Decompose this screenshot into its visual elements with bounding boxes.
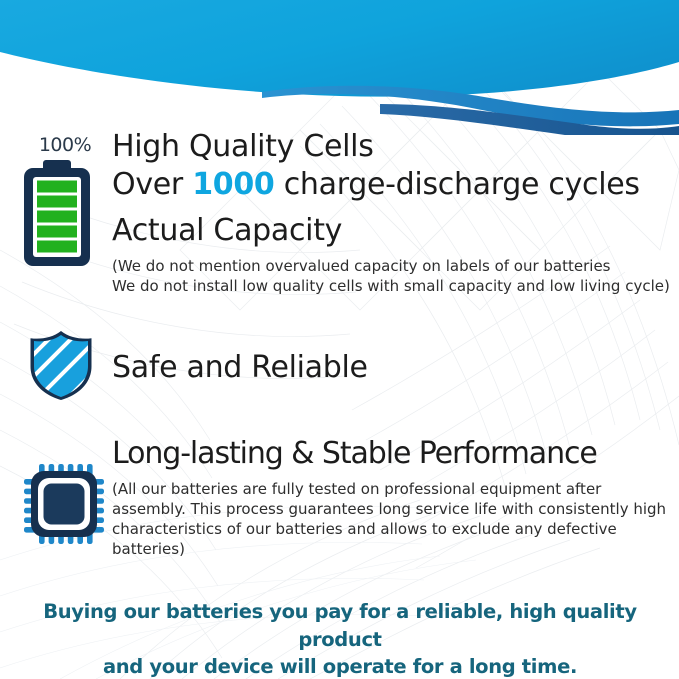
footer-line-1: Buying our batteries you pay for a relia…	[16, 598, 664, 653]
cycles-count: 1000	[192, 167, 274, 202]
feature-heading-long-lasting: Long-lasting & Stable Performance	[112, 437, 597, 472]
body-line: characteristics of our batteries and all…	[112, 520, 617, 538]
body-line: We do not install low quality cells with…	[112, 277, 670, 295]
feature-icon-safe-and-reliable	[28, 330, 94, 404]
body-line: (All our batteries are fully tested on p…	[112, 480, 601, 498]
content-area: 100% High Quality Cells Over 1000 charge…	[0, 0, 679, 679]
feature-heading-high-quality-cells: High Quality Cells	[112, 130, 374, 165]
footer-tagline: Buying our batteries you pay for a relia…	[16, 598, 664, 679]
body-line: (We do not mention overvalued capacity o…	[112, 257, 611, 275]
feature-icon-high-quality-cells: 100%	[22, 136, 108, 272]
cycles-suffix: charge-discharge cycles	[275, 167, 640, 202]
chip-icon	[22, 462, 106, 546]
infographic-page: 100% High Quality Cells Over 1000 charge…	[0, 0, 679, 679]
feature-icon-long-lasting	[22, 462, 106, 550]
feature-heading-actual-capacity: Actual Capacity	[112, 214, 342, 249]
feature-body-high-quality-cells: (We do not mention overvalued capacity o…	[112, 257, 672, 297]
feature-heading-safe-and-reliable: Safe and Reliable	[112, 351, 368, 386]
feature-heading-cycles: Over 1000 charge-discharge cycles	[112, 168, 640, 203]
shield-icon	[28, 330, 94, 400]
footer-line-2: and your device will operate for a long …	[16, 653, 664, 679]
feature-body-long-lasting: (All our batteries are fully tested on p…	[112, 480, 672, 560]
body-line: assembly. This process guarantees long s…	[112, 500, 666, 518]
body-line: batteries)	[112, 540, 185, 558]
battery-full-icon	[22, 160, 92, 268]
cycles-prefix: Over	[112, 167, 192, 202]
battery-percent-label: 100%	[22, 136, 108, 155]
